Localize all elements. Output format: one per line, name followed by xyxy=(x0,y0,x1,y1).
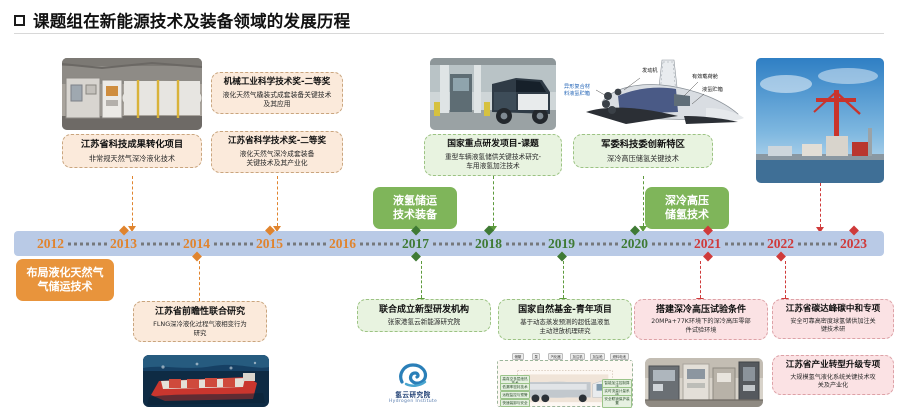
card-title: 军委科技委创新特区 xyxy=(579,139,707,152)
timeline-dotted-segment xyxy=(214,242,253,245)
timeline-year-2014[interactable]: 2014 xyxy=(183,236,210,252)
timeline-year-2018[interactable]: 2018 xyxy=(475,236,502,252)
badge-line-1: 深冷高压 xyxy=(665,194,709,208)
page-title: 课题组在新能源技术及装备领域的发展历程 xyxy=(33,8,350,32)
timeline-bar: 2012201320142015201620172018201920202021… xyxy=(14,231,884,256)
timeline-dotted-segment xyxy=(725,242,764,245)
card-jiangsu-carbon-peak[interactable]: 江苏省碳达峰碳中和专项 安全可靠高密度球氢储供加注关 键技术研 xyxy=(772,299,894,339)
card-jiangsu-science-award[interactable]: 江苏省科学技术奖-二等奖 液化天然气深冷成套装备 关键技术及其产业化 xyxy=(211,131,343,173)
card-subtitle: 深冷高压储氢关键技术 xyxy=(579,154,707,164)
timeline-year-2022[interactable]: 2022 xyxy=(767,236,794,252)
timeline-year-2016[interactable]: 2016 xyxy=(329,236,356,252)
badge-line-2: 储氢技术 xyxy=(665,208,709,222)
card-subtitle-line-1: 重型车辆液氢储供关键技术研究- xyxy=(430,153,556,162)
badge-cryo-high-pressure-phase: 深冷高压 储氢技术 xyxy=(645,187,729,229)
timeline-marker xyxy=(776,252,786,262)
wind-turbine-port-photo xyxy=(756,58,884,183)
timeline-marker xyxy=(703,252,713,262)
diag-chip-storage-tank: 储罐 xyxy=(512,353,524,360)
timeline-year-2023[interactable]: 2023 xyxy=(840,236,867,252)
timeline-dotted-segment xyxy=(652,242,691,245)
diag-chip-nozzle: 加氢枪 xyxy=(590,353,605,360)
timeline-dotted-segment xyxy=(287,242,326,245)
sc-label-payload-bay: 有效载荷舱 xyxy=(692,74,718,81)
timeline-year-2020[interactable]: 2020 xyxy=(621,236,648,252)
card-subtitle-line-2: 主动泄放机理研究 xyxy=(504,327,626,336)
timeline-year-2012[interactable]: 2012 xyxy=(37,236,64,252)
hydrogen-institute-logo: 氢云研究院 Hydrogen Institute xyxy=(368,362,458,404)
badge-line-1: 布局液化天然气 xyxy=(27,266,104,280)
diag-chip-fuel-cell: 燃料电池 xyxy=(610,353,629,360)
timeline-marker xyxy=(849,226,859,236)
card-title: 江苏省科学技术奖-二等奖 xyxy=(217,136,337,148)
card-title: 江苏省产业转型升级专项 xyxy=(778,360,888,372)
card-subtitle-line-2: 车用液氢加注技术 xyxy=(430,162,556,171)
liquid-hydrogen-tanker-diagram: 储罐 泵 汽化器 加注机 加氢枪 燃料电池 高真空多层绝热技术 低漏率密封技术 … xyxy=(497,360,633,407)
card-subtitle-line-1: 液化天然气橇装式成套装备关键技术 xyxy=(217,91,337,100)
card-subtitle-line-1: 液化天然气深冷成套装备 xyxy=(217,150,337,159)
timeline-year-2021[interactable]: 2021 xyxy=(694,236,721,252)
card-title: 江苏省前瞻性联合研究 xyxy=(139,306,261,318)
card-title: 国家重点研发项目-课题 xyxy=(430,139,556,151)
sc-label-composite-tank-1: 异形复合材 xyxy=(564,84,590,91)
logo-name-en: Hydrogen Institute xyxy=(368,399,458,404)
sc-label-engine: 发动机 xyxy=(642,68,658,75)
spaceplane-hydrogen-tank-diagram: 发动机 有效载荷舱 液氢贮箱 异形复合材 料液氢贮箱 xyxy=(566,56,756,134)
timeline-dotted-segment xyxy=(506,242,545,245)
timeline-dotted-segment xyxy=(141,242,180,245)
timeline-dotted-segment xyxy=(798,242,837,245)
card-new-rd-institution[interactable]: 联合成立新型研发机构 张家港氢云新能源研究院 xyxy=(357,299,491,332)
page-title-row: 课题组在新能源技术及装备领域的发展历程 xyxy=(14,8,350,32)
card-subtitle-line-1: 安全可靠高密度球氢储供加注关 xyxy=(778,318,888,326)
timeline-marker xyxy=(192,252,202,262)
card-nsfc-youth[interactable]: 国家自然基金-青年项目 基于动态蒸发预测的超低温液氢 主动泄放机理研究 xyxy=(498,299,632,340)
timeline-marker xyxy=(411,252,421,262)
timeline-marker xyxy=(119,226,129,236)
timeline-dotted-segment xyxy=(360,242,399,245)
card-title: 国家自然基金-青年项目 xyxy=(504,304,626,316)
card-subtitle-line-1: 基于动态蒸发预测的超低温液氢 xyxy=(504,318,626,327)
timeline-marker xyxy=(557,252,567,262)
timeline-year-2017[interactable]: 2017 xyxy=(402,236,429,252)
diag-chip-left-2: 低漏率密封技术 xyxy=(500,383,530,391)
card-subtitle-line-2: 及其应用 xyxy=(217,100,337,109)
card-machinery-award[interactable]: 机械工业科学技术奖-二等奖 液化天然气橇装式成套装备关键技术 及其应用 xyxy=(211,72,343,114)
card-title: 机械工业科学技术奖-二等奖 xyxy=(217,77,337,89)
hydrogen-refueling-truck-photo xyxy=(430,58,556,130)
title-divider xyxy=(14,33,884,34)
card-title: 搭建深冷高压试验条件 xyxy=(640,304,762,316)
cryo-test-rig-photo xyxy=(645,358,763,407)
card-subtitle-line-2: 件试验环境 xyxy=(640,327,762,335)
card-cryo-test-facility[interactable]: 搭建深冷高压试验条件 20MPa+77K环境下的深冷高压零部 件试验环境 xyxy=(634,299,768,340)
card-military-innovation-zone[interactable]: 军委科技委创新特区 深冷高压储氢关键技术 xyxy=(573,134,713,168)
timeline-year-2015[interactable]: 2015 xyxy=(256,236,283,252)
card-jiangsu-achievement[interactable]: 江苏省科技成果转化项目 非常规天然气深冷液化技术 xyxy=(62,134,202,168)
card-subtitle: 张家港氢云新能源研究院 xyxy=(363,318,485,327)
lng-skid-plant-photo xyxy=(62,58,202,130)
timeline-dotted-segment xyxy=(68,242,107,245)
card-national-key-rd[interactable]: 国家重点研发项目-课题 重型车辆液氢储供关键技术研究- 车用液氢加注技术 xyxy=(424,134,562,176)
diag-chip-pump: 泵 xyxy=(532,353,540,360)
card-subtitle-line-2: 键技术研 xyxy=(778,326,888,334)
timeline-dotted-segment xyxy=(579,242,618,245)
badge-line-1: 液氢储运 xyxy=(393,194,437,208)
timeline-marker xyxy=(630,226,640,236)
lng-carrier-ship-photo xyxy=(143,355,269,407)
card-title: 江苏省碳达峰碳中和专项 xyxy=(778,304,888,316)
diag-chip-dispenser: 加注机 xyxy=(570,353,585,360)
timeline-dotted-segment xyxy=(433,242,472,245)
card-subtitle: 非常规天然气深冷液化技术 xyxy=(68,154,196,164)
card-subtitle-line-2: 关及产业化 xyxy=(778,382,888,390)
card-title: 联合成立新型研发机构 xyxy=(363,304,485,316)
timeline-infographic: 课题组在新能源技术及装备领域的发展历程 xyxy=(0,0,898,409)
badge-line-2: 气储运技术 xyxy=(38,280,93,294)
sc-label-lh2-tank: 液氢贮箱 xyxy=(702,87,723,94)
card-subtitle-line-1: FLNG深冷液化过程气液相变行为 xyxy=(139,320,261,329)
card-title: 江苏省科技成果转化项目 xyxy=(68,139,196,152)
diag-chip-left-4: 快速装卸与安全 xyxy=(500,399,530,407)
sc-label-composite-tank-2: 料液氢贮箱 xyxy=(564,91,590,98)
badge-lng-phase: 布局液化天然气 气储运技术 xyxy=(16,259,114,301)
card-jiangsu-industry-upgrade[interactable]: 江苏省产业转型升级专项 大规模氢气液化系统关键技术攻 关及产业化 xyxy=(772,355,894,395)
diag-chip-left-3: 远程监控与预警 xyxy=(500,391,530,399)
timeline-year-2013[interactable]: 2013 xyxy=(110,236,137,252)
card-jiangsu-prospective[interactable]: 江苏省前瞻性联合研究 FLNG深冷液化过程气液相变行为 研究 xyxy=(133,301,267,342)
card-subtitle-line-2: 研究 xyxy=(139,329,261,338)
checkbox-outline-icon xyxy=(14,15,25,26)
timeline-year-2019[interactable]: 2019 xyxy=(548,236,575,252)
badge-liquid-hydrogen-phase: 液氢储运 技术装备 xyxy=(373,187,457,229)
diag-chip-vaporizer: 汽化器 xyxy=(548,353,563,360)
diag-chip-right-3: 安全联锁保护装置 xyxy=(602,395,632,408)
card-subtitle-line-1: 大规模氢气液化系统关键技术攻 xyxy=(778,374,888,382)
badge-line-2: 技术装备 xyxy=(393,208,437,222)
card-subtitle-line-1: 20MPa+77K环境下的深冷高压零部 xyxy=(640,318,762,326)
card-subtitle-line-2: 关键技术及其产业化 xyxy=(217,159,337,168)
logo-name-cn: 氢云研究院 xyxy=(368,389,458,399)
